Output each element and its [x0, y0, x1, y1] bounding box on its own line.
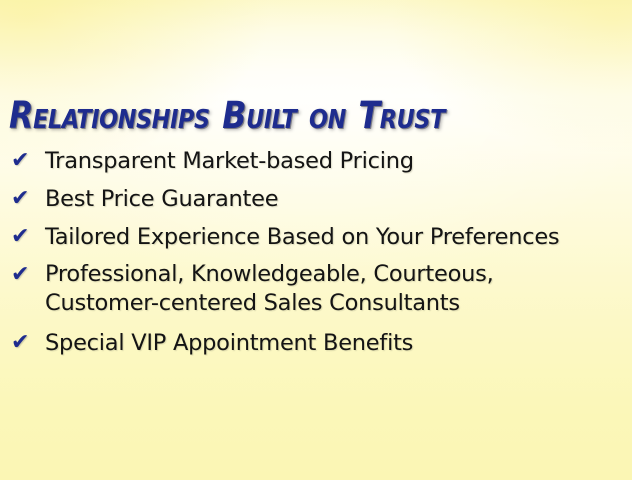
check-icon: ✔	[11, 260, 45, 290]
list-item-text: Transparent Market-based Pricing	[45, 146, 628, 176]
list-item-line-1: Transparent Market-based Pricing	[45, 148, 414, 174]
check-icon: ✔	[11, 184, 45, 214]
slide-canvas: Relationships Built on Trust ✔ Transpare…	[0, 0, 632, 480]
title-container: Relationships Built on Trust	[9, 96, 627, 136]
list-item-line-1: Best Price Guarantee	[45, 186, 278, 212]
check-icon: ✔	[11, 328, 45, 358]
list-item-text: Tailored Experience Based on Your Prefer…	[45, 222, 628, 252]
list-item: ✔ Best Price Guarantee	[11, 184, 628, 214]
check-icon: ✔	[11, 146, 45, 176]
list-item-text: Professional, Knowledgeable, Courteous, …	[45, 260, 628, 318]
list-item-line-1: Tailored Experience Based on Your Prefer…	[45, 224, 559, 250]
check-icon: ✔	[11, 222, 45, 252]
slide-content: Relationships Built on Trust ✔ Transpare…	[0, 0, 632, 480]
list-item-line-1: Professional, Knowledgeable, Courteous,	[45, 261, 493, 287]
list-item-text: Special VIP Appointment Benefits	[45, 328, 628, 358]
page-title: Relationships Built on Trust	[9, 96, 599, 136]
list-item: ✔ Special VIP Appointment Benefits	[11, 328, 628, 358]
list-item: ✔ Professional, Knowledgeable, Courteous…	[11, 260, 628, 318]
list-item-line-1: Special VIP Appointment Benefits	[45, 330, 413, 356]
benefits-list: ✔ Transparent Market-based Pricing ✔ Bes…	[11, 146, 628, 358]
list-item-line-2: Customer-centered Sales Consultants	[45, 289, 628, 318]
list-item: ✔ Tailored Experience Based on Your Pref…	[11, 222, 628, 252]
list-item: ✔ Transparent Market-based Pricing	[11, 146, 628, 176]
list-item-text: Best Price Guarantee	[45, 184, 628, 214]
